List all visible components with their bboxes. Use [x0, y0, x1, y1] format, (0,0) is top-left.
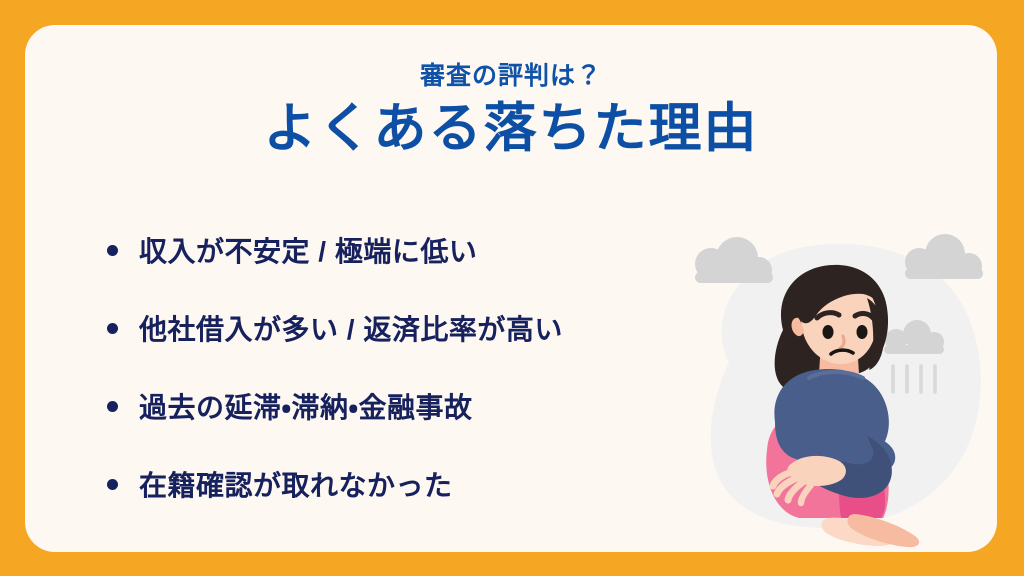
- list-item: 在籍確認が取れなかった: [107, 445, 727, 523]
- list-item: 収入が不安定 / 極端に低い: [107, 211, 727, 289]
- list-item: 過去の延滞・滞納・金融事故: [107, 367, 727, 445]
- eye-right: [857, 325, 868, 339]
- list-item: 他社借入が多い / 返済比率が高い: [107, 289, 727, 367]
- bullet-dot-icon: [107, 401, 118, 412]
- sad-woman-hugging-knees-illustration: [671, 222, 997, 552]
- eye-left: [823, 325, 834, 339]
- reasons-list: 収入が不安定 / 極端に低い 他社借入が多い / 返済比率が高い 過去の延滞・滞…: [107, 211, 727, 523]
- bullet-dot-icon: [107, 323, 118, 334]
- page-title: よくある落ちた理由: [25, 99, 997, 158]
- bullet-dot-icon: [107, 245, 118, 256]
- cloud-top-left: [695, 237, 773, 283]
- list-item-label: 他社借入が多い / 返済比率が高い: [139, 308, 563, 348]
- list-item-label: 在籍確認が取れなかった: [139, 464, 453, 504]
- content-card: 審査の評判は？ よくある落ちた理由 収入が不安定 / 極端に低い 他社借入が多い…: [25, 25, 997, 552]
- heading-block: 審査の評判は？ よくある落ちた理由: [25, 25, 997, 158]
- slide-root: 審査の評判は？ よくある落ちた理由 収入が不安定 / 極端に低い 他社借入が多い…: [0, 0, 1024, 576]
- list-item-label: 収入が不安定 / 極端に低い: [139, 230, 477, 270]
- slide-subtitle: 審査の評判は？: [25, 63, 997, 91]
- list-item-label: 過去の延滞・滞納・金融事故: [139, 386, 473, 426]
- cloud-top-right: [905, 234, 983, 279]
- bullet-dot-icon: [107, 479, 118, 490]
